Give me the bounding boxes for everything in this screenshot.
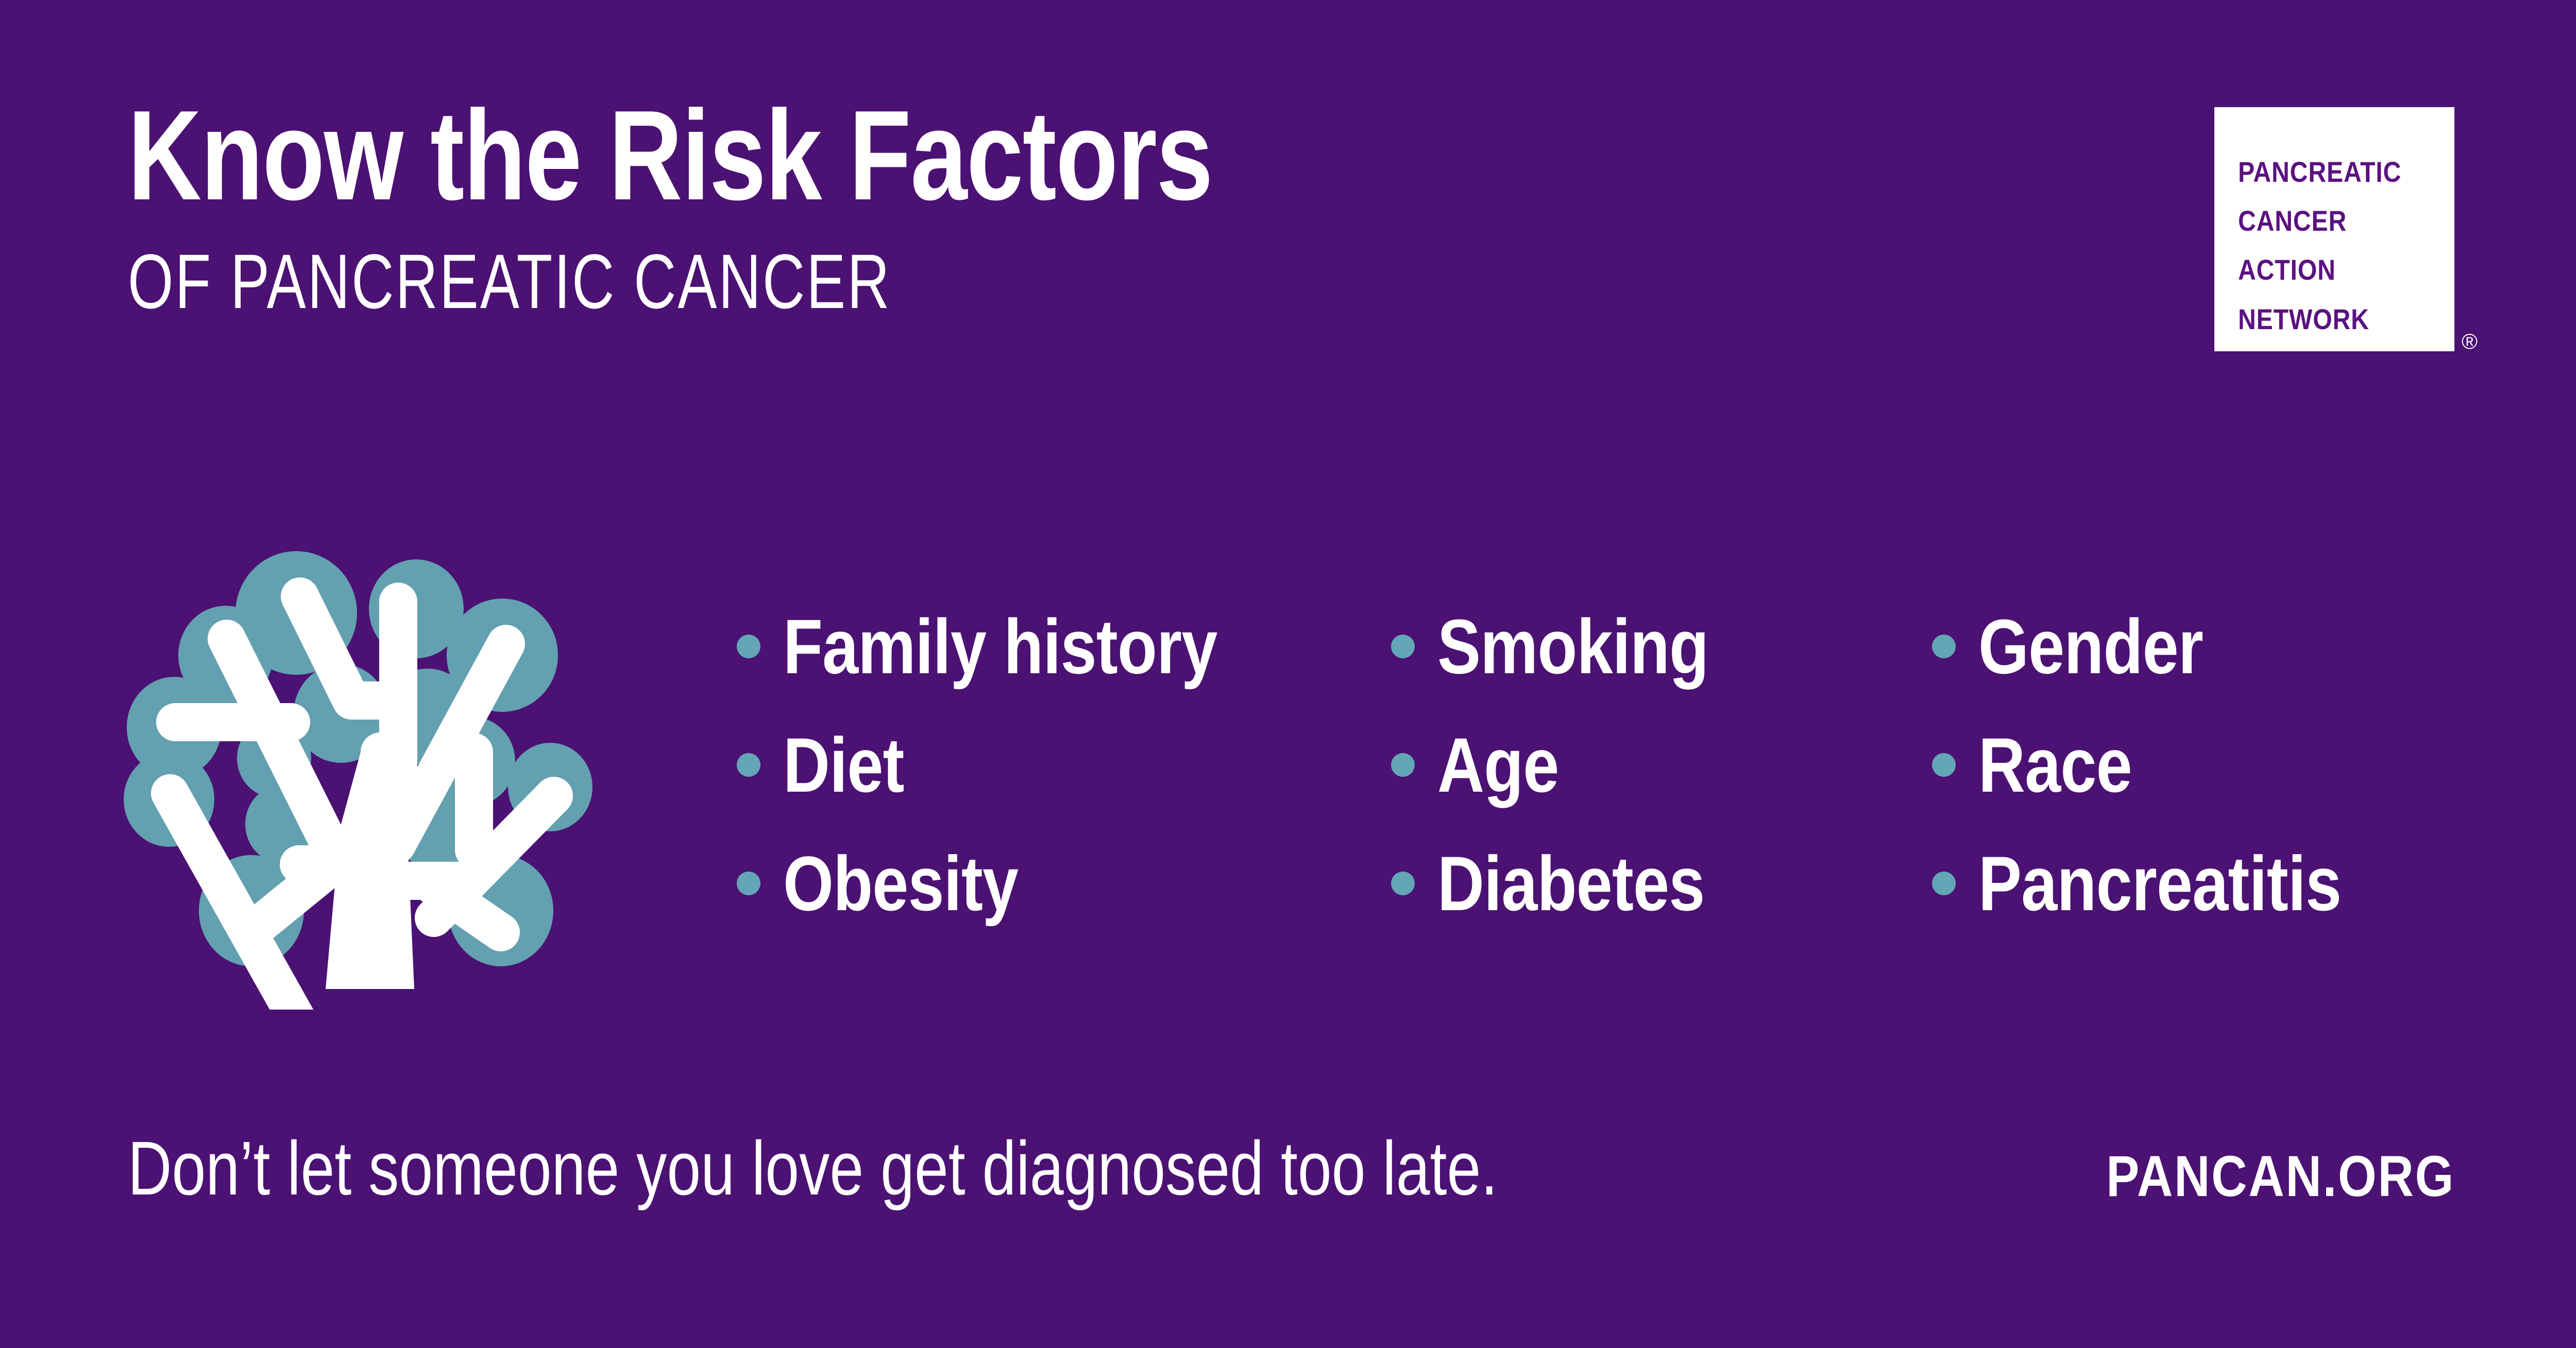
bullet-icon bbox=[737, 635, 760, 658]
risk-factor-label: Pancreatitis bbox=[1978, 845, 2341, 922]
page-title: Know the Risk Factors bbox=[128, 93, 1694, 218]
logo-line-pancreatic: PANCREATIC bbox=[2238, 147, 2415, 196]
tagline-text: Don’t let someone you love get diagnosed… bbox=[128, 1131, 1498, 1207]
website-url[interactable]: PANCAN.ORG bbox=[2106, 1148, 2455, 1205]
list-item: Obesity bbox=[737, 824, 1391, 943]
registered-trademark-icon: ® bbox=[2462, 331, 2478, 352]
logo-line-cancer: CANCER bbox=[2238, 196, 2415, 245]
family-tree-icon bbox=[118, 536, 613, 1010]
bullet-icon bbox=[1932, 635, 1956, 658]
risk-factor-label: Gender bbox=[1978, 608, 2203, 685]
logo-line-network: NETWORK bbox=[2238, 295, 2415, 344]
risk-column-3: Gender Race Pancreatitis bbox=[1932, 587, 2499, 943]
bullet-icon bbox=[1932, 753, 1956, 777]
bullet-icon bbox=[1391, 872, 1415, 895]
bullet-icon bbox=[737, 753, 760, 777]
list-item: Race bbox=[1932, 706, 2499, 824]
risk-column-2: Smoking Age Diabetes bbox=[1391, 587, 1932, 943]
risk-factors-infographic: Know the Risk Factors OF PANCREATIC CANC… bbox=[0, 0, 2576, 1348]
list-item: Family history bbox=[737, 587, 1391, 706]
risk-factor-label: Smoking bbox=[1437, 608, 1708, 685]
risk-factor-label: Diet bbox=[783, 726, 904, 804]
bullet-icon bbox=[1391, 635, 1415, 658]
header-block: Know the Risk Factors OF PANCREATIC CANC… bbox=[128, 93, 2086, 320]
risk-factor-label: Diabetes bbox=[1437, 845, 1705, 922]
risk-factor-columns: Family history Diet Obesity Smoking Age bbox=[737, 587, 2499, 943]
risk-factor-label: Race bbox=[1978, 726, 2132, 804]
list-item: Age bbox=[1391, 706, 1932, 824]
page-subtitle: OF PANCREATIC CANCER bbox=[128, 243, 1616, 320]
logo-line-action: ACTION bbox=[2238, 245, 2415, 294]
list-item: Smoking bbox=[1391, 587, 1932, 706]
risk-column-1: Family history Diet Obesity bbox=[737, 587, 1391, 943]
tree-trunk bbox=[326, 732, 414, 989]
list-item: Diet bbox=[737, 706, 1391, 824]
risk-factor-label: Age bbox=[1437, 726, 1559, 804]
pancan-logo[interactable]: PANCREATIC CANCER ACTION NETWORK ® bbox=[2214, 107, 2454, 351]
logo-text-block: PANCREATIC CANCER ACTION NETWORK bbox=[2238, 147, 2444, 344]
list-item: Gender bbox=[1932, 587, 2499, 706]
bullet-icon bbox=[737, 872, 760, 895]
bullet-icon bbox=[1391, 753, 1415, 777]
list-item: Pancreatitis bbox=[1932, 824, 2499, 943]
risk-factor-label: Obesity bbox=[783, 845, 1018, 922]
list-item: Diabetes bbox=[1391, 824, 1932, 943]
risk-factor-label: Family history bbox=[783, 608, 1217, 685]
bullet-icon bbox=[1932, 872, 1956, 895]
